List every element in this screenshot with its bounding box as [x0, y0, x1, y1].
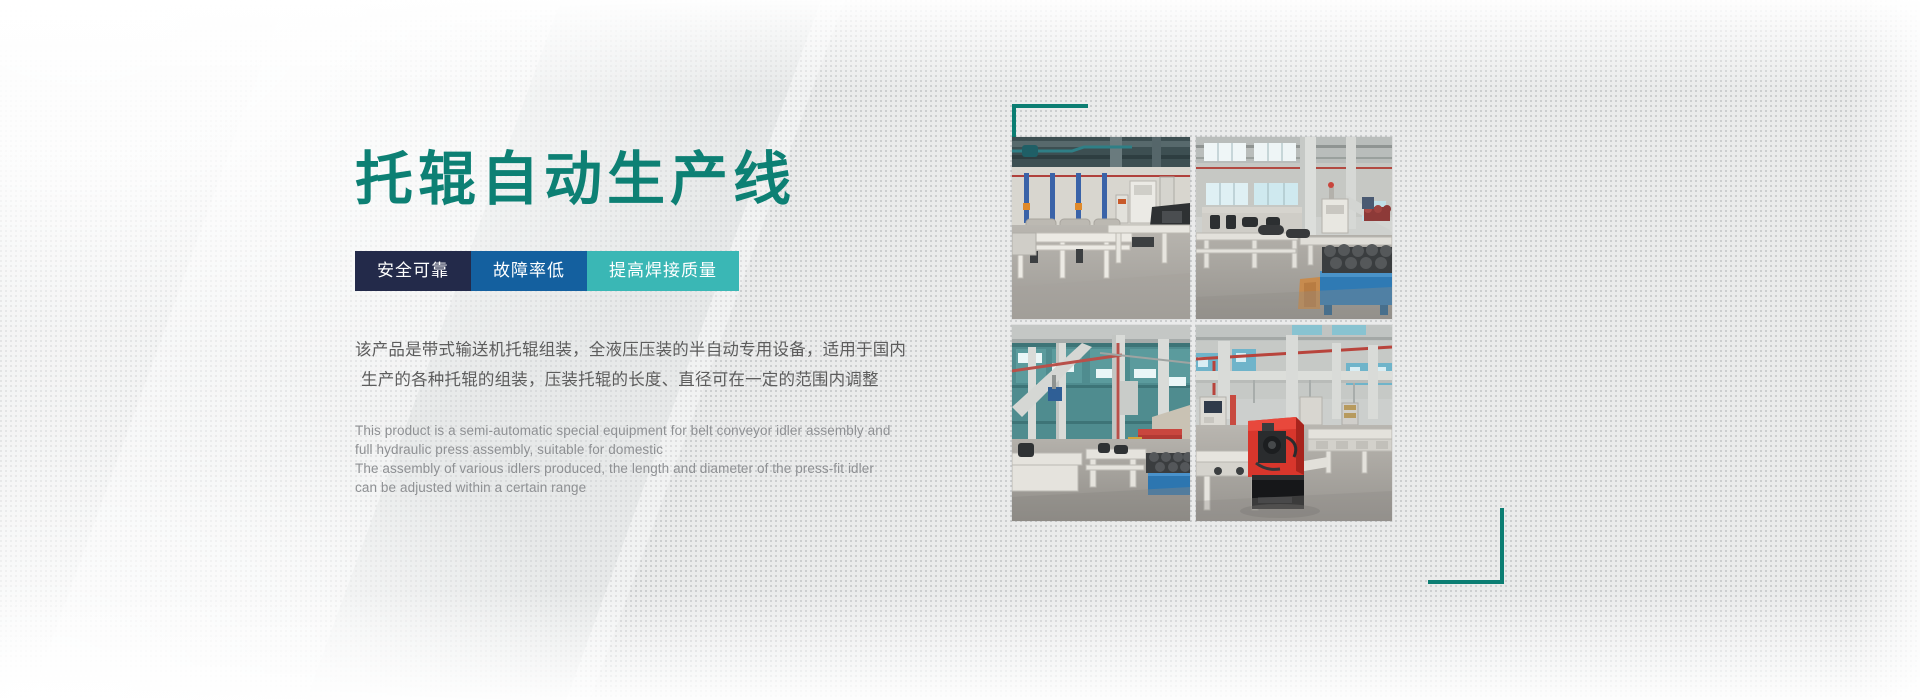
description-english-line-3: The assembly of various idlers produced,…: [355, 459, 915, 478]
description-chinese-line-2: 生产的各种托辊的组装，压装托辊的长度、直径可在一定的范围内调整: [355, 365, 975, 395]
photo-bottom-left[interactable]: Wide factory hall with teal windows and …: [1012, 325, 1190, 521]
description-english-line-1: This product is a semi-automatic special…: [355, 421, 915, 440]
page-title: 托辊自动生产线: [355, 150, 975, 211]
description-english: This product is a semi-automatic special…: [355, 421, 915, 497]
background-fade-bottom: [0, 590, 1920, 700]
product-banner: 托辊自动生产线 安全可靠 故障率低 提高焊接质量 该产品是带式输送机托辊组装，全…: [0, 0, 1920, 700]
photo-bottom-right[interactable]: Red hydraulic press machine on black bas…: [1196, 325, 1392, 521]
photo-top-left[interactable]: Factory roller conveyor line with blue s…: [1012, 137, 1190, 319]
description-chinese: 该产品是带式输送机托辊组装，全液压压装的半自动专用设备，适用于国内 生产的各种托…: [355, 335, 975, 395]
description-english-line-4: can be adjusted within a certain range: [355, 478, 915, 497]
corner-bracket-bottom-right-icon: [1428, 508, 1504, 584]
description-english-line-2: full hydraulic press assembly, suitable …: [355, 440, 915, 459]
feature-badge-failure[interactable]: 故障率低: [471, 251, 587, 291]
background-fade-right: [1850, 0, 1920, 700]
description-chinese-line-1: 该产品是带式输送机托辊组装，全液压压装的半自动专用设备，适用于国内: [355, 335, 975, 365]
photo-top-right[interactable]: Workshop with windows, work benches and …: [1196, 137, 1392, 319]
feature-badge-safety[interactable]: 安全可靠: [355, 251, 471, 291]
feature-badge-welding[interactable]: 提高焊接质量: [587, 251, 739, 291]
photo-grid: Factory roller conveyor line with blue s…: [1012, 137, 1392, 521]
feature-badge-list: 安全可靠 故障率低 提高焊接质量: [355, 251, 975, 291]
banner-text-column: 托辊自动生产线 安全可靠 故障率低 提高焊接质量 该产品是带式输送机托辊组装，全…: [355, 150, 975, 497]
background-fade-top: [0, 0, 1920, 90]
photo-collage: Factory roller conveyor line with blue s…: [978, 100, 1508, 570]
